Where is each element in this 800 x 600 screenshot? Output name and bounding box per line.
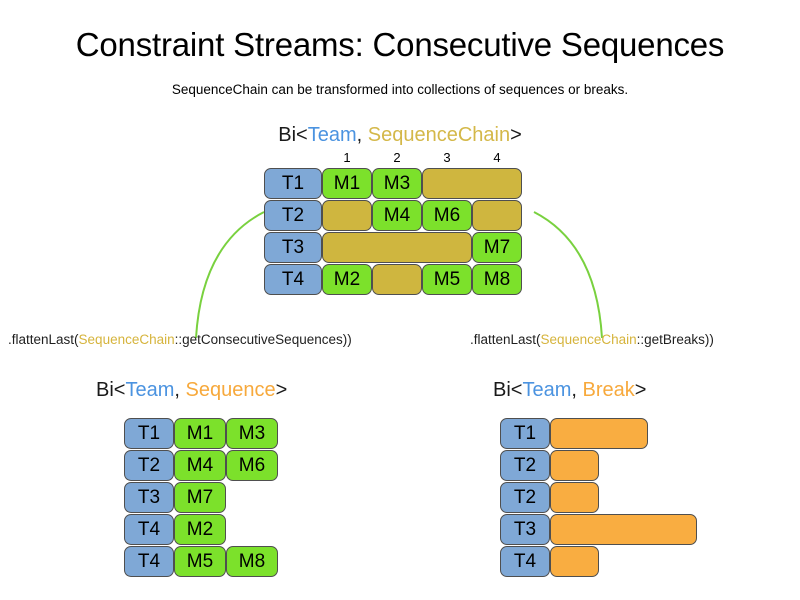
break-type-label: Bi<Team, Break>: [493, 379, 646, 402]
sequence-team-cell-3: T4: [124, 514, 174, 545]
chain-gap-cell-T2-0: [322, 200, 372, 231]
break-bar-0: [550, 418, 648, 449]
sequence-match-cell-M1-label: M1: [187, 424, 213, 443]
break-team-cell-3-label: T3: [514, 520, 536, 539]
chain-gap-cell-T3-0: [322, 232, 472, 263]
break-type-prefix: Bi<: [493, 379, 522, 401]
chain-match-cell-M4: M4: [372, 200, 422, 231]
sequence-team-cell-1: T2: [124, 450, 174, 481]
sequence-match-cell-M4: M4: [174, 450, 226, 481]
chain-team-cell-T2-label: T2: [282, 206, 304, 225]
break-team-cell-0-label: T1: [514, 424, 536, 443]
chain-gap-cell-T1-2: [422, 168, 522, 199]
chain-team-cell-T1: T1: [264, 168, 322, 199]
break-type-first: Team: [522, 379, 571, 401]
break-team-cell-2-label: T2: [514, 488, 536, 507]
right-method-prefix: .flattenLast(: [470, 332, 541, 347]
sequence-match-cell-M3-label: M3: [239, 424, 265, 443]
right-method-caption: .flattenLast(SequenceChain::getBreaks)): [470, 332, 714, 347]
break-bar-3: [550, 514, 697, 545]
chain-type-second: SequenceChain: [368, 124, 510, 146]
sequence-match-cell-M6-label: M6: [239, 456, 265, 475]
left-method-caption: .flattenLast(SequenceChain::getConsecuti…: [8, 332, 352, 347]
chain-column-number-1: 1: [335, 150, 359, 165]
chain-match-cell-M6: M6: [422, 200, 472, 231]
sequence-type-suffix: >: [276, 379, 288, 401]
chain-type-first: Team: [308, 124, 357, 146]
sequence-type-label: Bi<Team, Sequence>: [96, 379, 287, 402]
sequence-type-second: Sequence: [186, 379, 276, 401]
break-team-cell-3: T3: [500, 514, 550, 545]
chain-match-cell-M8-label: M8: [484, 270, 510, 289]
sequence-type-first: Team: [125, 379, 174, 401]
chain-column-number-2: 2: [385, 150, 409, 165]
right-method-suffix: ::getBreaks)): [637, 332, 714, 347]
chain-match-cell-M7-label: M7: [484, 238, 510, 257]
sequence-match-cell-M7: M7: [174, 482, 226, 513]
sequence-match-cell-M8: M8: [226, 546, 278, 577]
sequence-type-separator: ,: [174, 379, 185, 401]
chain-type-label: Bi<Team, SequenceChain>: [0, 124, 800, 147]
chain-team-cell-T3: T3: [264, 232, 322, 263]
break-team-cell-0: T1: [500, 418, 550, 449]
chain-team-cell-T4: T4: [264, 264, 322, 295]
break-team-cell-1: T2: [500, 450, 550, 481]
chain-type-separator: ,: [357, 124, 368, 146]
chain-column-number-4: 4: [485, 150, 509, 165]
sequence-match-cell-M4-label: M4: [187, 456, 213, 475]
sequence-match-cell-M2-label: M2: [187, 520, 213, 539]
chain-match-cell-M3-label: M3: [384, 174, 410, 193]
chain-team-cell-T2: T2: [264, 200, 322, 231]
right-method-owner: SequenceChain: [541, 332, 637, 347]
left-method-suffix: ::getConsecutiveSequences)): [175, 332, 352, 347]
diagram-canvas: Constraint Streams: Consecutive Sequence…: [0, 0, 800, 600]
chain-team-cell-T1-label: T1: [282, 174, 304, 193]
chain-match-cell-M4-label: M4: [384, 206, 410, 225]
chain-gap-cell-T2-3: [472, 200, 522, 231]
chain-gap-cell-T4-1: [372, 264, 422, 295]
chain-match-cell-M8: M8: [472, 264, 522, 295]
break-type-suffix: >: [635, 379, 647, 401]
chain-match-cell-M2-label: M2: [334, 270, 360, 289]
left-method-prefix: .flattenLast(: [8, 332, 79, 347]
break-team-cell-2: T2: [500, 482, 550, 513]
chain-match-cell-M7: M7: [472, 232, 522, 263]
break-type-second: Break: [583, 379, 635, 401]
chain-match-cell-M3: M3: [372, 168, 422, 199]
sequence-team-cell-0-label: T1: [138, 424, 160, 443]
sequence-team-cell-3-label: T4: [138, 520, 160, 539]
sequence-match-cell-M5: M5: [174, 546, 226, 577]
sequence-match-cell-M1: M1: [174, 418, 226, 449]
chain-match-cell-M5-label: M5: [434, 270, 460, 289]
chain-match-cell-M2: M2: [322, 264, 372, 295]
chain-type-prefix: Bi<: [278, 124, 307, 146]
chain-column-number-3: 3: [435, 150, 459, 165]
break-type-separator: ,: [571, 379, 582, 401]
break-bar-2: [550, 482, 599, 513]
break-bar-1: [550, 450, 599, 481]
connector-right-curve: [534, 212, 602, 338]
sequence-team-cell-4-label: T4: [138, 552, 160, 571]
connector-left-curve: [196, 212, 264, 338]
break-team-cell-1-label: T2: [514, 456, 536, 475]
sequence-match-cell-M6: M6: [226, 450, 278, 481]
chain-match-cell-M6-label: M6: [434, 206, 460, 225]
sequence-team-cell-1-label: T2: [138, 456, 160, 475]
sequence-team-cell-0: T1: [124, 418, 174, 449]
left-method-owner: SequenceChain: [79, 332, 175, 347]
break-team-cell-4-label: T4: [514, 552, 536, 571]
sequence-team-cell-2-label: T3: [138, 488, 160, 507]
chain-match-cell-M1: M1: [322, 168, 372, 199]
page-subtitle: SequenceChain can be transformed into co…: [0, 82, 800, 97]
chain-match-cell-M1-label: M1: [334, 174, 360, 193]
sequence-team-cell-2: T3: [124, 482, 174, 513]
page-title: Constraint Streams: Consecutive Sequence…: [0, 26, 800, 64]
sequence-match-cell-M8-label: M8: [239, 552, 265, 571]
sequence-match-cell-M2: M2: [174, 514, 226, 545]
break-bar-4: [550, 546, 599, 577]
sequence-match-cell-M5-label: M5: [187, 552, 213, 571]
sequence-team-cell-4: T4: [124, 546, 174, 577]
sequence-match-cell-M7-label: M7: [187, 488, 213, 507]
sequence-match-cell-M3: M3: [226, 418, 278, 449]
chain-match-cell-M5: M5: [422, 264, 472, 295]
break-team-cell-4: T4: [500, 546, 550, 577]
chain-team-cell-T3-label: T3: [282, 238, 304, 257]
chain-team-cell-T4-label: T4: [282, 270, 304, 289]
sequence-type-prefix: Bi<: [96, 379, 125, 401]
chain-type-suffix: >: [510, 124, 522, 146]
